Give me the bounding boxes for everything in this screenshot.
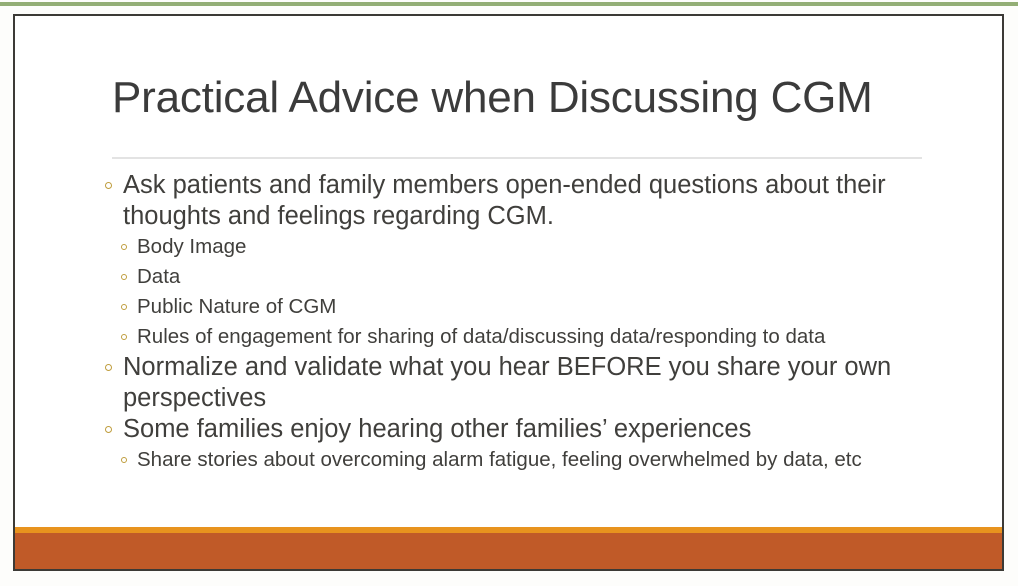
bullet-ring-icon bbox=[105, 426, 112, 433]
bullet-ring-icon bbox=[105, 364, 112, 371]
bullet-text: Rules of engagement for sharing of data/… bbox=[137, 322, 965, 352]
bullet-list-level-1: Ask patients and family members open-end… bbox=[105, 170, 965, 475]
footer-orange-band bbox=[15, 533, 1002, 569]
list-item: Public Nature of CGM bbox=[121, 292, 965, 322]
bullet-text: Data bbox=[137, 262, 965, 292]
slide-page: Practical Advice when Discussing CGM Ask… bbox=[0, 0, 1018, 586]
bullet-list-level-2: Body Image Data Public Nature of CGM bbox=[121, 232, 965, 352]
list-item: Some families enjoy hearing other famili… bbox=[105, 414, 965, 445]
list-item: Share stories about overcoming alarm fat… bbox=[121, 445, 965, 475]
list-item: Data bbox=[121, 262, 965, 292]
bullet-ring-icon bbox=[121, 457, 127, 463]
bullet-text: Ask patients and family members open-end… bbox=[123, 170, 965, 232]
sublist-container: Share stories about overcoming alarm fat… bbox=[105, 445, 965, 475]
title-divider bbox=[112, 157, 922, 159]
bullet-text: Some families enjoy hearing other famili… bbox=[123, 414, 965, 445]
slide-body: Ask patients and family members open-end… bbox=[105, 170, 965, 475]
bullet-ring-icon bbox=[121, 244, 127, 250]
list-item: Body Image bbox=[121, 232, 965, 262]
list-item: Rules of engagement for sharing of data/… bbox=[121, 322, 965, 352]
bullet-list-level-2: Share stories about overcoming alarm fat… bbox=[121, 445, 965, 475]
bullet-ring-icon bbox=[121, 274, 127, 280]
bullet-ring-icon bbox=[121, 334, 127, 340]
bullet-text: Normalize and validate what you hear BEF… bbox=[123, 352, 965, 414]
list-item: Normalize and validate what you hear BEF… bbox=[105, 352, 965, 414]
bullet-ring-icon bbox=[121, 304, 127, 310]
bullet-text: Share stories about overcoming alarm fat… bbox=[137, 445, 965, 475]
bullet-text: Body Image bbox=[137, 232, 965, 262]
list-item: Ask patients and family members open-end… bbox=[105, 170, 965, 232]
bullet-ring-icon bbox=[105, 182, 112, 189]
page-title: Practical Advice when Discussing CGM bbox=[112, 71, 942, 125]
bullet-text: Public Nature of CGM bbox=[137, 292, 965, 322]
slide-canvas: Practical Advice when Discussing CGM Ask… bbox=[13, 14, 1004, 571]
sublist-container: Body Image Data Public Nature of CGM bbox=[105, 232, 965, 352]
top-green-accent-bar bbox=[0, 2, 1018, 6]
